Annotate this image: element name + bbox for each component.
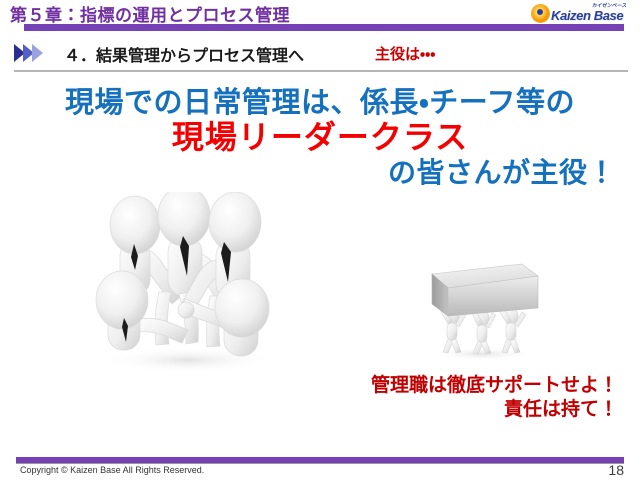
headline-line-1: 現場での日常管理は、係長・チーフ等の <box>0 88 640 118</box>
subheading-divider <box>14 70 628 72</box>
copyright-text: Copyright © Kaizen Base All Rights Reser… <box>20 465 204 475</box>
lifting-block-illustration <box>418 254 546 362</box>
team-huddle-illustration <box>72 192 304 374</box>
logo-name-text: Kaizen Base <box>551 8 623 23</box>
title-underline-bar <box>24 24 624 31</box>
chapter-title: 第５章：指標の運用とプロセス管理 <box>10 1 290 26</box>
headline-line-2: 現場リーダークラス <box>0 121 640 154</box>
footer-divider <box>16 463 624 464</box>
support-message-line-2: 責任は持て！ <box>371 398 618 422</box>
support-message: 管理職は徹底サポートせよ！ 責任は持て！ <box>371 374 618 423</box>
slide-root: 第５章：指標の運用とプロセス管理 カイゼンベース Kaizen Base ４．結… <box>0 0 640 480</box>
chevron-right-icon-3 <box>32 44 43 62</box>
headline-block: 現場での日常管理は、係長・チーフ等の 現場リーダークラス の皆さんが主役！ <box>0 88 640 188</box>
subheading-row: ４．結果管理からプロセス管理へ 主役は・・・ <box>0 40 640 70</box>
triple-chevron-icon <box>14 44 41 62</box>
kaizen-base-logo: カイゼンベース Kaizen Base <box>530 2 634 26</box>
subheading-title: ４．結果管理からプロセス管理へ <box>64 42 304 66</box>
subheading-accent: 主役は・・・ <box>375 43 435 64</box>
headline-line-3: の皆さんが主役！ <box>0 158 640 187</box>
page-number: 18 <box>608 462 624 478</box>
sun-gear-icon <box>532 5 549 22</box>
support-message-line-1: 管理職は徹底サポートせよ！ <box>371 374 618 398</box>
